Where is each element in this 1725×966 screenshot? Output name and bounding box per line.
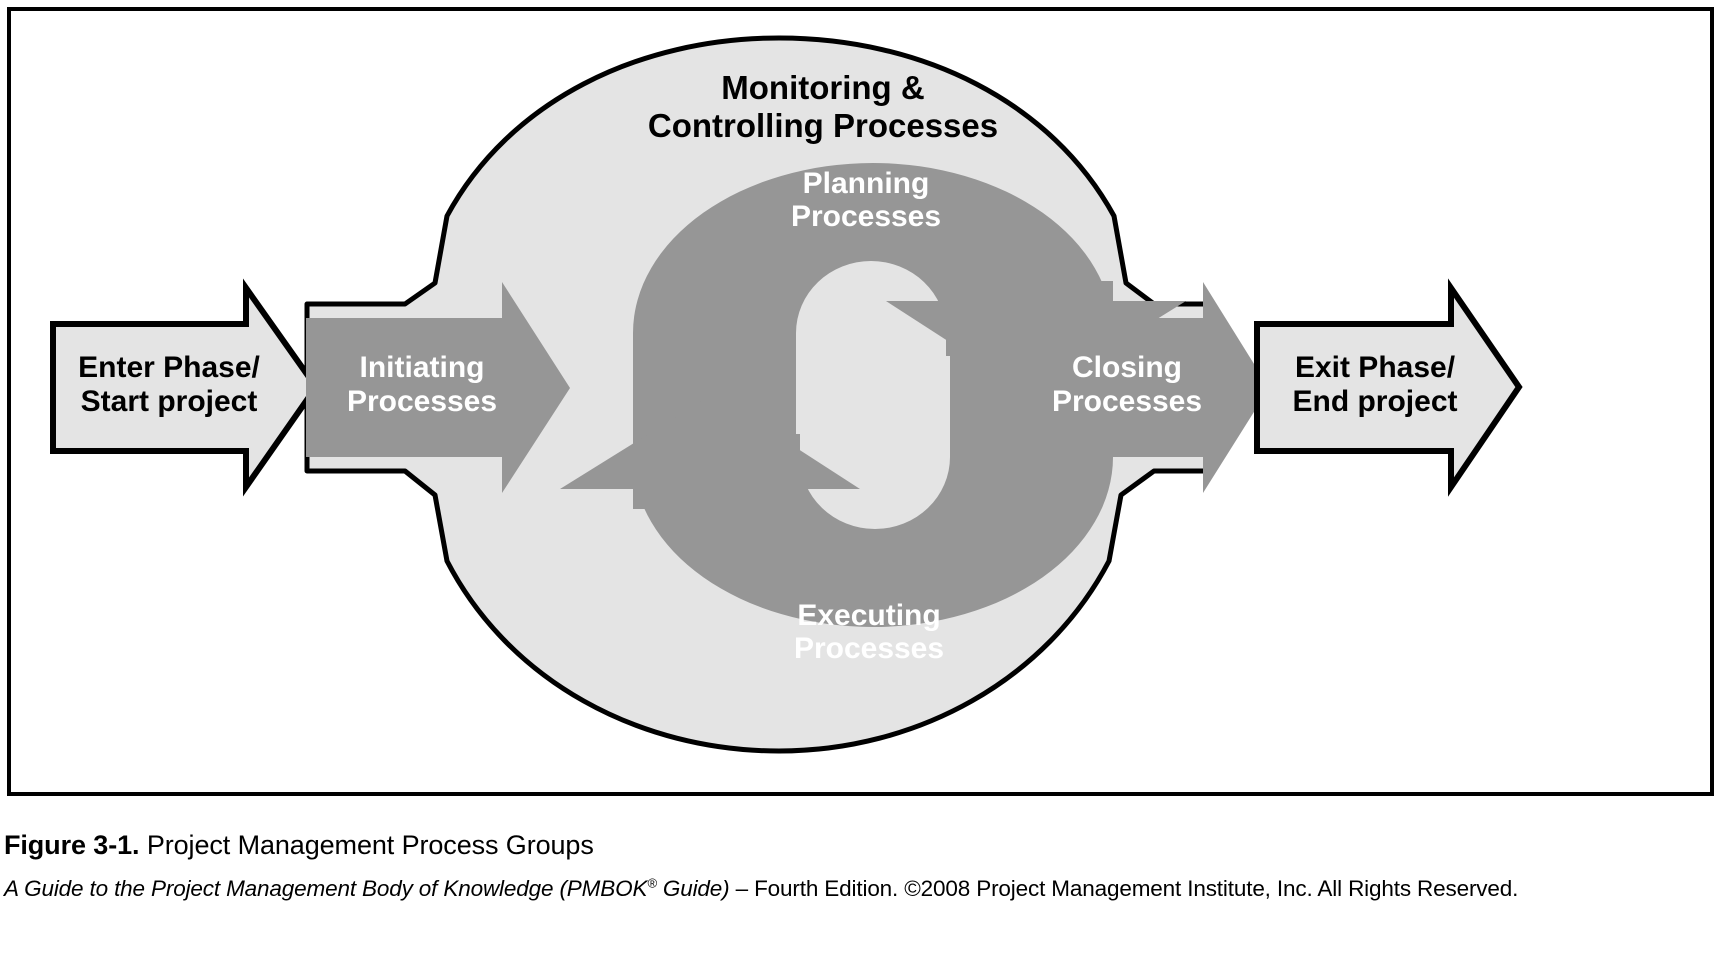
figure-label: Figure 3-1. xyxy=(4,830,139,860)
executing-line1: Executing xyxy=(797,599,940,632)
caption-block: Figure 3-1. Project Management Process G… xyxy=(4,830,1719,902)
executing-processes-label: Executing Processes xyxy=(794,599,944,665)
monitoring-line2: Controlling Processes xyxy=(648,107,998,144)
initiating-line2: Processes xyxy=(347,385,497,418)
source-attribution: A Guide to the Project Management Body o… xyxy=(4,875,1719,902)
closing-line1: Closing xyxy=(1072,351,1182,384)
source-italic-part: A Guide to the Project Management Body o… xyxy=(4,876,647,901)
initiating-line1: Initiating xyxy=(360,351,485,384)
planning-line2: Processes xyxy=(791,200,941,233)
exit-phase-line2: End project xyxy=(1292,385,1457,418)
exit-phase-line1: Exit Phase/ xyxy=(1295,351,1456,384)
figure-page: Monitoring & Controlling Processes Plann… xyxy=(0,0,1725,966)
monitoring-line1: Monitoring & xyxy=(721,69,924,106)
executing-line2: Processes xyxy=(794,632,944,665)
diagram-frame: Monitoring & Controlling Processes Plann… xyxy=(7,7,1714,796)
planning-line1: Planning xyxy=(803,167,930,200)
closing-line2: Processes xyxy=(1052,385,1202,418)
exit-phase-label: Exit Phase/ End project xyxy=(1292,351,1457,418)
registered-trademark-mark: ® xyxy=(647,876,656,891)
enter-phase-line1: Enter Phase/ xyxy=(78,351,260,384)
closing-processes-label: Closing Processes xyxy=(1052,351,1202,418)
initiating-processes-label: Initiating Processes xyxy=(347,351,497,418)
figure-title: Project Management Process Groups xyxy=(147,830,594,860)
enter-phase-label: Enter Phase/ Start project xyxy=(78,351,260,418)
planning-processes-label: Planning Processes xyxy=(791,167,941,233)
source-rest: – Fourth Edition. ©2008 Project Manageme… xyxy=(730,876,1519,901)
figure-caption: Figure 3-1. Project Management Process G… xyxy=(4,830,1719,861)
source-italic-tail: Guide) xyxy=(657,876,730,901)
enter-phase-line2: Start project xyxy=(81,385,258,418)
process-groups-diagram: Monitoring & Controlling Processes Plann… xyxy=(11,11,1718,800)
